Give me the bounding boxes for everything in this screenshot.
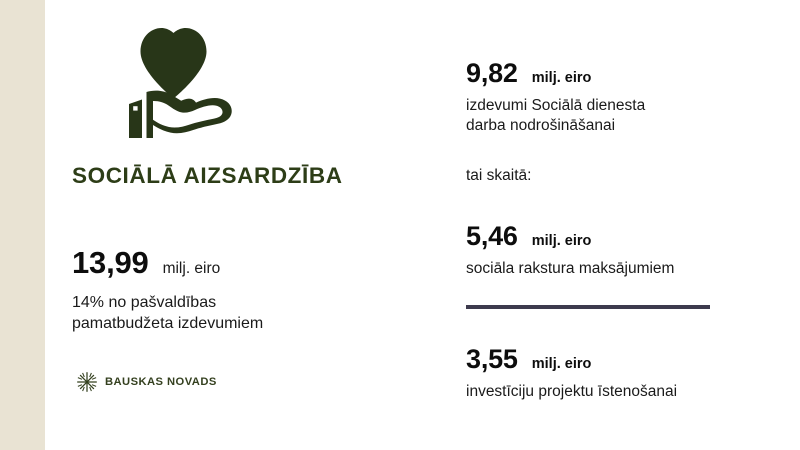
stat-description: sociāla rakstura maksājumiem	[466, 259, 766, 279]
stat-description: izdevumi Sociālā dienesta darba nodrošin…	[466, 96, 766, 136]
stat-description-line-2: darba nodrošināšanai	[466, 116, 766, 136]
stat-value: 5,46	[466, 221, 518, 252]
slide-canvas: SOCIĀLĀ AIZSARDZĪBA 13,99 milj. eiro 14%…	[0, 0, 800, 450]
primary-stat-description: 14% no pašvaldības pamatbudžeta izdevumi…	[72, 292, 412, 334]
stat-headline: 3,55 milj. eiro	[466, 344, 766, 375]
stat-value: 3,55	[466, 344, 518, 375]
stat-description-line-1: izdevumi Sociālā dienesta	[466, 96, 766, 116]
primary-stat: 13,99 milj. eiro	[72, 245, 220, 281]
stat-block-expenses: 9,82 milj. eiro izdevumi Sociālā dienest…	[466, 58, 766, 136]
stat-unit: milj. eiro	[532, 233, 592, 249]
stat-description: investīciju projektu īstenošanai	[466, 382, 766, 402]
breakdown-note: tai skaitā:	[466, 167, 531, 185]
stat-unit: milj. eiro	[532, 70, 592, 86]
stat-headline: 9,82 milj. eiro	[466, 58, 766, 89]
left-column: SOCIĀLĀ AIZSARDZĪBA 13,99 milj. eiro 14%…	[72, 0, 442, 450]
primary-stat-description-line-1: 14% no pašvaldības	[72, 292, 412, 313]
heart-in-hand-icon	[110, 12, 240, 140]
primary-stat-unit: milj. eiro	[163, 260, 221, 278]
stat-value: 9,82	[466, 58, 518, 89]
stat-block-investments: 3,55 milj. eiro investīciju projektu īst…	[466, 344, 766, 402]
brand-lockup: BAUSKAS NOVADS	[76, 371, 217, 393]
left-accent-stripe	[0, 0, 45, 450]
right-column: 9,82 milj. eiro izdevumi Sociālā dienest…	[466, 0, 786, 450]
stat-headline: 5,46 milj. eiro	[466, 221, 766, 252]
stat-block-social-payments: 5,46 milj. eiro sociāla rakstura maksāju…	[466, 221, 766, 279]
starburst-logo-icon	[76, 371, 98, 393]
brand-name: BAUSKAS NOVADS	[105, 376, 217, 388]
primary-stat-value: 13,99	[72, 245, 149, 281]
page-title: SOCIĀLĀ AIZSARDZĪBA	[72, 163, 343, 189]
primary-stat-description-line-2: pamatbudžeta izdevumiem	[72, 313, 412, 334]
section-divider	[466, 305, 710, 309]
stat-unit: milj. eiro	[532, 356, 592, 372]
